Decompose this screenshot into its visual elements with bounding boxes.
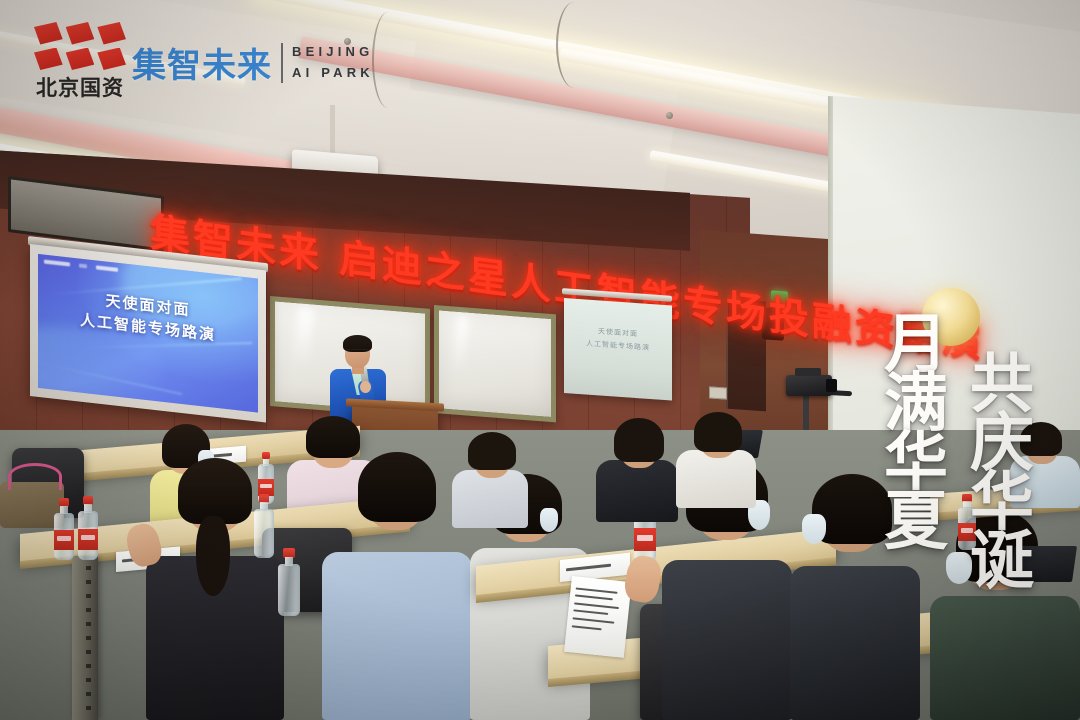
- sprinkler-head: [666, 112, 673, 119]
- handout-paper-held[interactable]: [564, 576, 632, 658]
- wall-switch-plate[interactable]: [709, 386, 727, 399]
- logo-beijing-ai-park: 集智未来 BEIJING AI PARK: [132, 38, 374, 87]
- speaker-hand: [360, 381, 371, 393]
- water-bottle[interactable]: [54, 498, 74, 560]
- speaker-glasses-icon: [346, 349, 369, 356]
- desk-leg: [72, 556, 98, 720]
- projection-screen-main: 天使面对面 人工智能专场路演: [30, 244, 266, 422]
- header-logos: 北京国资 集智未来 BEIJING AI PARK: [0, 0, 420, 110]
- aipark-logo-cn: 集智未来: [132, 38, 272, 87]
- screen2-line2: 人工智能专场路演: [586, 340, 650, 352]
- screen2-line1: 天使面对面: [598, 327, 638, 338]
- water-bottle[interactable]: [958, 494, 976, 550]
- event-photo: 集智未来 启迪之星人工智能专场投融资路演 天使面对面 人工智能专场路演 天使: [0, 0, 1080, 720]
- camera-lens-icon: [826, 379, 837, 392]
- guozi-mark-icon: [34, 22, 126, 70]
- water-bottle[interactable]: [278, 548, 300, 616]
- aipark-en-line1: BEIJING: [292, 42, 374, 62]
- projector-mount: [330, 105, 335, 155]
- laptop[interactable]: [1010, 546, 1077, 582]
- water-bottle[interactable]: [78, 496, 98, 560]
- slide-corner-logos: [44, 260, 118, 272]
- projection-screen-secondary: 天使面对面 人工智能专场路演: [564, 298, 672, 401]
- aipark-en-line2: AI PARK: [292, 63, 374, 83]
- whiteboard-right: [434, 305, 556, 422]
- water-bottle[interactable]: [254, 494, 274, 558]
- presentation-slide: 天使面对面 人工智能专场路演: [38, 254, 258, 413]
- logo-divider: [281, 43, 283, 83]
- logo-beijing-guozi: 北京国资: [34, 22, 126, 102]
- camera-handle: [795, 368, 821, 376]
- aipark-logo-en: BEIJING AI PARK: [292, 42, 374, 82]
- guozi-logo-text: 北京国资: [34, 72, 126, 102]
